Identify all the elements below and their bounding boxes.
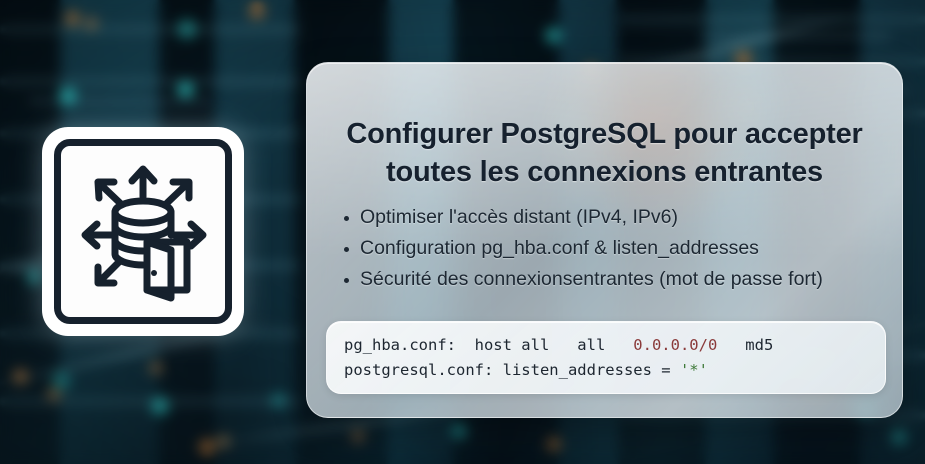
title-line-2: toutes les connexions entrantes [325,154,884,192]
slide-canvas: Configurer PostgreSQL pour accepter tout… [0,0,925,464]
content-glass-panel: Configurer PostgreSQL pour accepter tout… [306,62,903,418]
feature-bullet-list: Optimiser l'accès distant (IPv4, IPv6) C… [339,203,880,296]
database-remote-access-icon-card [42,127,244,336]
title-line-1: Configurer PostgreSQL pour accepter [346,118,862,150]
code-prefix-listen-addresses: postgresql.conf: listen_addresses = [344,361,680,379]
icon-frame [54,139,232,324]
code-prefix-pg-hba: pg_hba.conf: host all all [344,336,633,354]
list-item: Sécurité des connexionsentrantes (mot de… [339,265,880,294]
page-title: Configurer PostgreSQL pour accepter tout… [325,116,884,191]
code-token-wildcard: '*' [680,361,708,379]
code-snippet-box: pg_hba.conf: host all all 0.0.0.0/0 md5 … [326,321,886,394]
code-token-address: 0.0.0.0/0 [633,336,717,354]
code-suffix-md5: md5 [717,336,773,354]
list-item: Optimiser l'accès distant (IPv4, IPv6) [339,203,880,232]
list-item: Configuration pg_hba.conf & listen_addre… [339,234,880,263]
code-line-2: postgresql.conf: listen_addresses = '*' [344,358,885,383]
database-arrows-door-icon [68,157,218,307]
code-line-1: pg_hba.conf: host all all 0.0.0.0/0 md5 [344,333,885,358]
